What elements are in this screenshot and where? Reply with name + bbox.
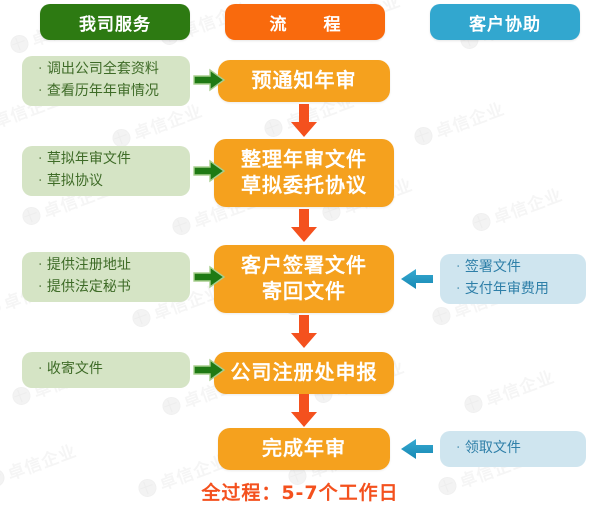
globe-icon (20, 204, 43, 227)
arrow-right-green-4 (193, 358, 225, 382)
globe-icon (470, 210, 493, 233)
header-banner-our-service: 我司服务 (40, 4, 190, 40)
watermark-text: 卓信企业 (481, 363, 557, 411)
globe-icon (170, 214, 193, 237)
service-box-4-item-1: 收寄文件 (38, 359, 180, 381)
service-box-3: 提供注册地址 提供法定秘书 (22, 252, 190, 302)
service-box-1: 调出公司全套资料 查看历年年审情况 (22, 56, 190, 106)
arrow-right-green-2 (193, 159, 225, 183)
process-box-2-line-1: 整理年审文件 (241, 147, 367, 173)
client-box-2-item-1: 领取文件 (456, 438, 576, 460)
service-box-4: 收寄文件 (22, 352, 190, 388)
globe-icon (0, 296, 3, 319)
arrow-right-green-1 (193, 68, 225, 92)
service-box-3-item-2: 提供法定秘书 (38, 277, 180, 299)
client-box-2: 领取文件 (440, 431, 586, 467)
watermark-text: 卓信企业 (431, 95, 507, 143)
client-box-1: 签署文件 支付年审费用 (440, 254, 586, 304)
process-box-2-line-2: 草拟委托协议 (241, 173, 367, 199)
arrow-left-blue-2 (400, 437, 434, 461)
arrow-down-orange-2 (289, 209, 319, 243)
process-box-4: 公司注册处申报 (214, 352, 394, 394)
arrow-down-orange-1 (289, 104, 319, 138)
process-box-3: 客户签署文件 寄回文件 (214, 245, 394, 313)
header-label-center: 流 程 (260, 10, 351, 35)
client-box-1-item-2: 支付年审费用 (456, 279, 576, 301)
service-box-1-item-1: 调出公司全套资料 (38, 59, 180, 81)
process-box-3-line-1: 客户签署文件 (241, 253, 367, 279)
globe-icon (262, 116, 285, 139)
header-banner-process: 流 程 (225, 4, 385, 40)
arrow-down-orange-3 (289, 315, 319, 349)
globe-icon (430, 304, 453, 327)
header-label-right: 客户协助 (469, 10, 541, 35)
process-box-5: 完成年审 (218, 428, 390, 470)
watermark-text: 卓信企业 (489, 181, 565, 229)
arrow-left-blue-1 (400, 267, 434, 291)
header-banner-client-assist: 客户协助 (430, 4, 580, 40)
process-box-1-line-1: 预通知年审 (252, 68, 357, 94)
globe-icon (130, 306, 153, 329)
process-box-2: 整理年审文件 草拟委托协议 (214, 139, 394, 207)
service-box-2-item-1: 草拟年审文件 (38, 149, 180, 171)
arrow-down-orange-4 (289, 394, 319, 428)
globe-icon (462, 392, 485, 415)
column-headers: 我司服务 流 程 客户协助 (0, 4, 600, 42)
service-box-3-item-1: 提供注册地址 (38, 255, 180, 277)
service-box-1-item-2: 查看历年年审情况 (38, 81, 180, 103)
client-box-1-item-1: 签署文件 (456, 257, 576, 279)
globe-icon (412, 124, 435, 147)
process-box-3-line-2: 寄回文件 (262, 279, 346, 305)
header-label-left: 我司服务 (79, 10, 151, 35)
process-box-1: 预通知年审 (218, 60, 390, 102)
service-box-2-item-2: 草拟协议 (38, 171, 180, 193)
flowchart-diagram: 卓信企业 卓信企业 卓信企业 卓信企业 卓信企业 卓信企业 卓信企业 卓信企业 … (0, 0, 600, 512)
arrow-right-green-3 (193, 265, 225, 289)
service-box-2: 草拟年审文件 草拟协议 (22, 146, 190, 196)
globe-icon (160, 394, 183, 417)
footer-duration-text: 全过程：5-7个工作日 (0, 478, 600, 505)
process-box-4-line-1: 公司注册处申报 (231, 360, 378, 386)
process-box-5-line-1: 完成年审 (262, 436, 346, 462)
